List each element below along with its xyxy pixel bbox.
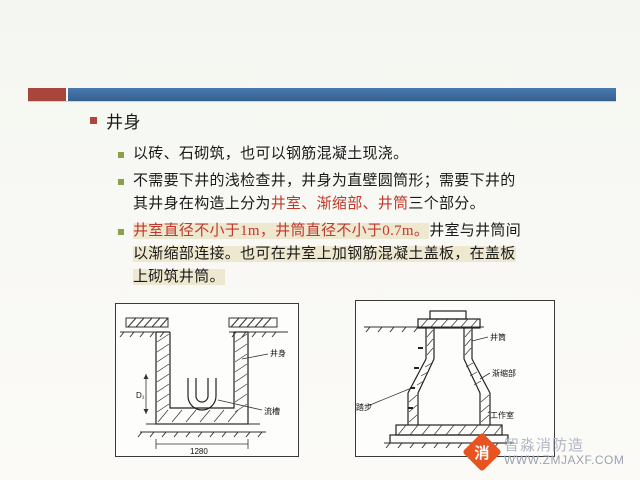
figure-left-label-0: 井身 [270, 348, 286, 358]
page-title: 井身 [106, 108, 141, 133]
bullet-list: 以砖、石砌筑，也可以钢筋混凝土现浇。 不需要下井的浅检查井，井身为直壁圆筒形；需… [118, 143, 610, 289]
square-bullet-icon [118, 179, 124, 185]
divider-accent-red [28, 88, 66, 101]
brand-url: WWW.ZMJAXF.COM [504, 453, 624, 467]
list-item: 井室直径不小于1m，井筒直径不小于0.7m。井室与井筒间 以渐缩部连接。也可在井… [118, 220, 610, 289]
bullet-2-line1: 不需要下井的浅检查井，井身为直壁圆筒形；需要下井的 [133, 173, 516, 189]
bullet-3-line1-post: 井室与井筒间 [429, 223, 521, 239]
bullet-2-line2-pre: 其井身在构造上分为 [133, 196, 271, 212]
watermark-logo: 消 智淼消防造 WWW.ZMJAXF.COM [468, 432, 634, 472]
square-bullet-icon [90, 117, 97, 124]
figure-right-label-0: 井筒 [490, 332, 506, 342]
figure-right-label-1: 渐缩部 [492, 368, 516, 378]
square-bullet-icon [118, 152, 124, 158]
bullet-text-2: 不需要下井的浅检查井，井身为直壁圆筒形；需要下井的 其井身在构造上分为井室、渐缩… [133, 170, 516, 216]
figure-left-label-2: D₁ [136, 391, 145, 400]
figure-left-label-1: 流槽 [264, 406, 280, 416]
slide-body: 井身 以砖、石砌筑，也可以钢筋混凝土现浇。 不需要下井的浅检查井，井身为直壁圆筒… [90, 108, 610, 293]
list-item: 以砖、石砌筑，也可以钢筋混凝土现浇。 [118, 143, 610, 166]
bullet-3-line2: 以渐缩部连接。也可在井室上加钢筋混凝土盖板，在盖板 [133, 246, 516, 262]
figure-manhole-section-left: 井身 流槽 D₁ 1280 [115, 303, 299, 457]
square-bullet-icon [118, 229, 124, 235]
bullet-2-line2-post: 三个部分。 [408, 196, 485, 212]
bullet-text-3: 井室直径不小于1m，井筒直径不小于0.7m。井室与井筒间 以渐缩部连接。也可在井… [133, 220, 521, 289]
bullet-3-line3: 上砌筑井筒。 [133, 269, 225, 285]
slide-canvas: 井身 以砖、石砌筑，也可以钢筋混凝土现浇。 不需要下井的浅检查井，井身为直壁圆筒… [0, 0, 640, 480]
bullet-2-line2-emphasis: 井室、渐缩部、井筒 [271, 196, 409, 212]
figure-right-label-2: 踏步 [356, 402, 372, 412]
bullet-3-highlight: 井室直径不小于1m，井筒直径不小于0.7m。 [133, 223, 429, 239]
title-divider [28, 88, 616, 102]
list-item: 不需要下井的浅检查井，井身为直壁圆筒形；需要下井的 其井身在构造上分为井室、渐缩… [118, 170, 610, 216]
brand-name-cn: 智淼消防造 [504, 434, 584, 455]
figure-right-label-3: 工作室 [490, 410, 514, 420]
figure-left-drawing: 井身 流槽 D₁ 1280 [116, 304, 298, 456]
badge-glyph: 消 [468, 438, 496, 466]
heading-row: 井身 [90, 108, 610, 133]
figure-left-label-3: 1280 [190, 447, 208, 456]
divider-accent-blue [68, 88, 616, 101]
bullet-text-1: 以砖、石砌筑，也可以钢筋混凝土现浇。 [133, 143, 408, 166]
divider-hairline [28, 101, 616, 102]
